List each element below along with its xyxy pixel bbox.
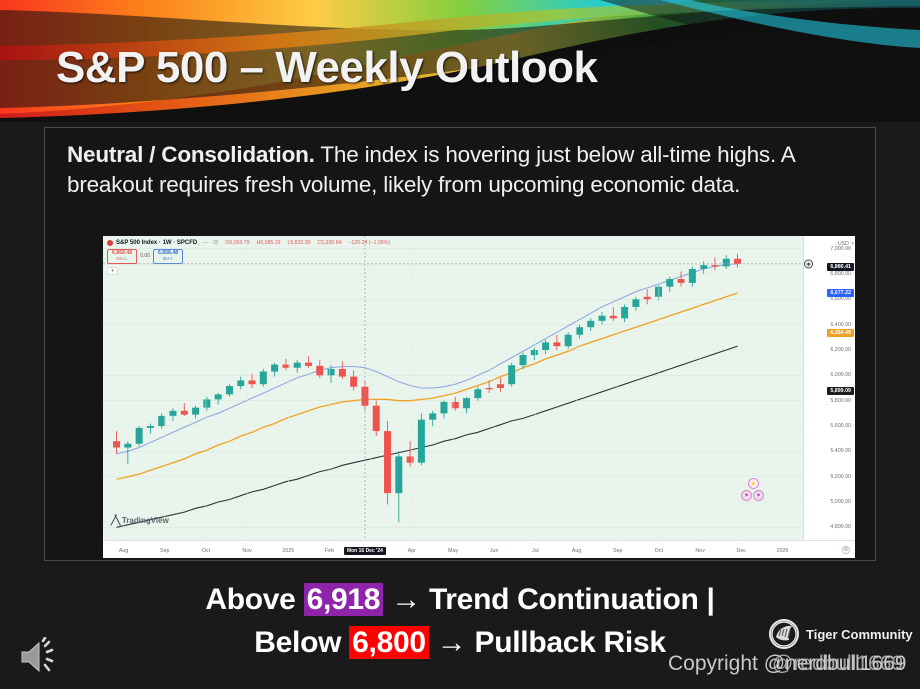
callout-above-prefix: Above [205, 583, 303, 616]
copyright-ghost: @redbull1669 [772, 652, 903, 676]
time-tick-label: Feb [325, 548, 334, 554]
price-tick-label: 5,800.00 [830, 398, 851, 404]
callout-below-prefix: Below [254, 626, 349, 659]
time-tick-label: Jun [490, 548, 499, 554]
axis-settings-gear-icon[interactable]: ⚙ [842, 546, 850, 554]
time-tick-label: Aug [119, 548, 128, 554]
ohlc-low: L5,832.30 [287, 240, 310, 246]
ohlc-open: O6,063.79 [225, 240, 249, 246]
price-badge-dark[interactable]: 6,880.41 [827, 263, 854, 271]
tiger-community-label: Tiger Community [806, 627, 913, 642]
crosshair-date-badge: Mon 16 Dec '24 [344, 547, 386, 555]
lead-bold: Neutral / Consolidation. [67, 142, 315, 167]
time-tick-label: Oct [202, 548, 210, 554]
tiger-community-logo: Tiger Community [769, 619, 913, 649]
price-tick-label: 7,000.00 [830, 246, 851, 252]
tradingview-label: TradingView [122, 516, 169, 525]
buy-label: BUY [158, 257, 178, 262]
time-tick-label: May [448, 548, 458, 554]
callout-above-suffix: → Trend Continuation | [383, 583, 714, 616]
legend-settings-icon[interactable]: ⊟ [213, 239, 218, 246]
event-badge-flag-left-icon[interactable]: ⚑ [741, 490, 752, 501]
symbol-title[interactable]: S&P 500 Index · 1W · SPCFD [116, 240, 197, 246]
time-tick-label: Apr [408, 548, 416, 554]
spread-value: 0.00 [140, 253, 150, 259]
legend-minimize-icon[interactable]: — [202, 240, 208, 246]
sell-label: SELL [112, 257, 132, 262]
time-tick-label: Jul [532, 548, 539, 554]
price-tick-label: 5,600.00 [830, 423, 851, 429]
ohlc-change: −120.24 (−1.99%) [349, 240, 391, 246]
callout-line-1: Above 6,918 → Trend Continuation | [0, 578, 920, 621]
price-axis[interactable]: USD ▾ 7,000.006,800.006,600.006,400.006,… [803, 236, 855, 540]
lead-paragraph: Neutral / Consolidation. The index is ho… [67, 140, 857, 200]
price-badge-orange[interactable]: 6,354.49 [827, 329, 854, 337]
candlestick-svg [103, 236, 803, 540]
tiger-mark-icon [769, 619, 799, 649]
level-below-highlight: 6,800 [349, 626, 429, 659]
time-tick-label: Nov [242, 548, 251, 554]
time-axis[interactable]: AugSepOctNov2025FebMarAprMayJunJulAugSep… [103, 540, 855, 558]
chart-plot-area[interactable]: S&P 500 Index · 1W · SPCFD — ⊟ O6,063.79… [103, 236, 803, 540]
buy-sell-widget[interactable]: 6,858.48 SELL 0.00 6,858.48 BUY [107, 249, 390, 264]
symbol-dot-icon [107, 240, 113, 246]
price-tick-label: 5,400.00 [830, 448, 851, 454]
time-tick-label: Oct [655, 548, 663, 554]
sell-button[interactable]: 6,858.48 SELL [107, 249, 137, 264]
event-badge-flash-icon[interactable]: ⚡ [748, 478, 759, 489]
time-tick-label: Dec [737, 548, 746, 554]
currency-chevron-down-icon[interactable]: ▾ [851, 241, 854, 247]
time-tick-label: 2026 [777, 548, 789, 554]
time-tick-label: Aug [572, 548, 581, 554]
ohlc-close: C5,930.84 [318, 240, 342, 246]
content-panel: Neutral / Consolidation. The index is ho… [44, 127, 876, 561]
price-badge-blue[interactable]: 6,677.22 [827, 289, 854, 297]
time-tick-label: Nov [695, 548, 704, 554]
price-tick-label: 5,000.00 [830, 499, 851, 505]
ohlc-high: H6,085.19 [257, 240, 281, 246]
buy-button[interactable]: 6,858.48 BUY [153, 249, 183, 264]
price-tick-label: 5,200.00 [830, 474, 851, 480]
tradingview-watermark: ╱╲ TradingView [111, 515, 169, 526]
price-tick-label: 6,000.00 [830, 372, 851, 378]
price-tick-label: 6,200.00 [830, 347, 851, 353]
tradingview-chart[interactable]: S&P 500 Index · 1W · SPCFD — ⊟ O6,063.79… [103, 236, 855, 558]
slide-banner: S&P 500 – Weekly Outlook [0, 0, 920, 122]
price-tick-label: 4,800.00 [830, 524, 851, 530]
tradingview-logo-icon: ╱╲ [111, 515, 119, 526]
copyright-text: Copyright @nerdbull1669 @redbull1669 [668, 652, 906, 676]
collapse-chevron-down-icon[interactable]: ▾ [107, 267, 118, 275]
callout-below-suffix: → Pullback Risk [429, 626, 666, 659]
level-above-highlight: 6,918 [304, 583, 384, 616]
time-tick-label: 2025 [282, 548, 294, 554]
current-price-marker-icon[interactable]: ◉ [804, 259, 813, 268]
price-badge-black[interactable]: 5,899.09 [827, 387, 854, 395]
chart-legend: S&P 500 Index · 1W · SPCFD — ⊟ O6,063.79… [107, 239, 390, 275]
time-tick-label: Sep [613, 548, 622, 554]
audio-speaker-icon[interactable] [18, 637, 66, 682]
event-badge-flag-right-icon[interactable]: ⚑ [753, 490, 764, 501]
time-tick-label: Sep [160, 548, 169, 554]
page-title: S&P 500 – Weekly Outlook [56, 43, 598, 93]
